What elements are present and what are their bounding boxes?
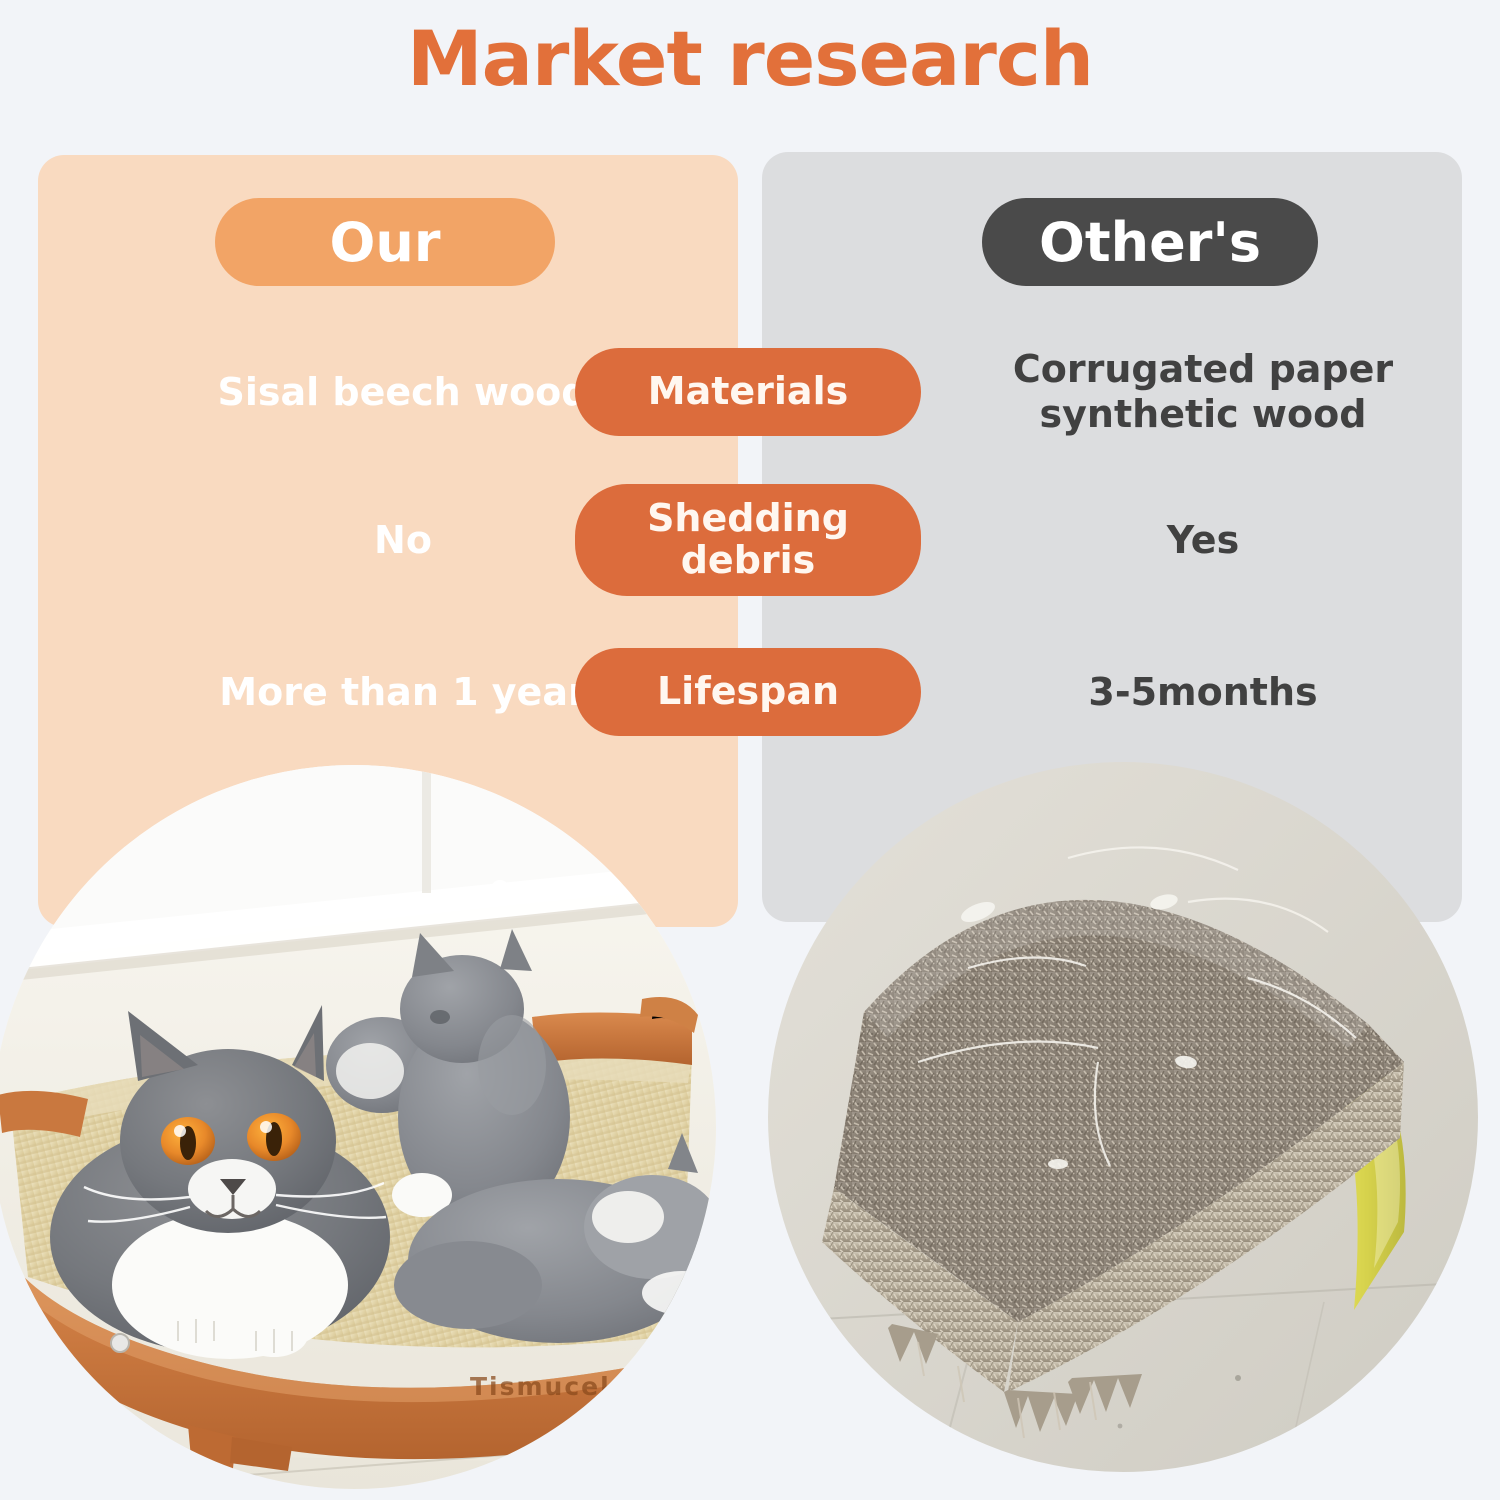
row-label-materials: Materials	[575, 348, 921, 436]
row-label-lifespan-text: Lifespan	[657, 671, 839, 713]
page-title: Market research	[0, 14, 1500, 103]
our-value-materials: Sisal beech wood	[193, 371, 613, 414]
comparison-row: No Shedding debris Yes	[38, 485, 1462, 595]
photo-brand-engraving: Tismucel	[470, 1372, 611, 1401]
column-header-our: Our	[215, 198, 555, 286]
row-label-shedding-line1: Shedding	[647, 496, 849, 540]
row-label-shedding-line2: debris	[681, 538, 816, 582]
row-label-shedding-debris: Shedding debris	[575, 484, 921, 596]
row-label-shedding-debris-text: Shedding debris	[647, 498, 849, 582]
other-value-lifespan: 3-5months	[938, 670, 1468, 715]
column-header-our-label: Our	[330, 211, 441, 274]
other-value-materials-line2: synthetic wood	[938, 392, 1468, 437]
other-value-materials-line1: Corrugated paper	[938, 347, 1468, 392]
column-header-other-label: Other's	[1039, 211, 1261, 274]
comparison-row: More than 1 year Lifespan 3-5months	[38, 637, 1462, 747]
other-value-shedding: Yes	[938, 518, 1468, 563]
our-value-shedding: No	[193, 519, 613, 562]
other-value-materials: Corrugated paper synthetic wood	[938, 347, 1468, 437]
photo-other-product	[768, 762, 1478, 1472]
photo-our-product: Tismucel	[0, 765, 716, 1489]
row-label-materials-text: Materials	[648, 371, 848, 413]
our-value-lifespan: More than 1 year	[193, 671, 613, 714]
comparison-row: Sisal beech wood Materials Corrugated pa…	[38, 337, 1462, 447]
row-label-lifespan: Lifespan	[575, 648, 921, 736]
column-header-other: Other's	[982, 198, 1318, 286]
